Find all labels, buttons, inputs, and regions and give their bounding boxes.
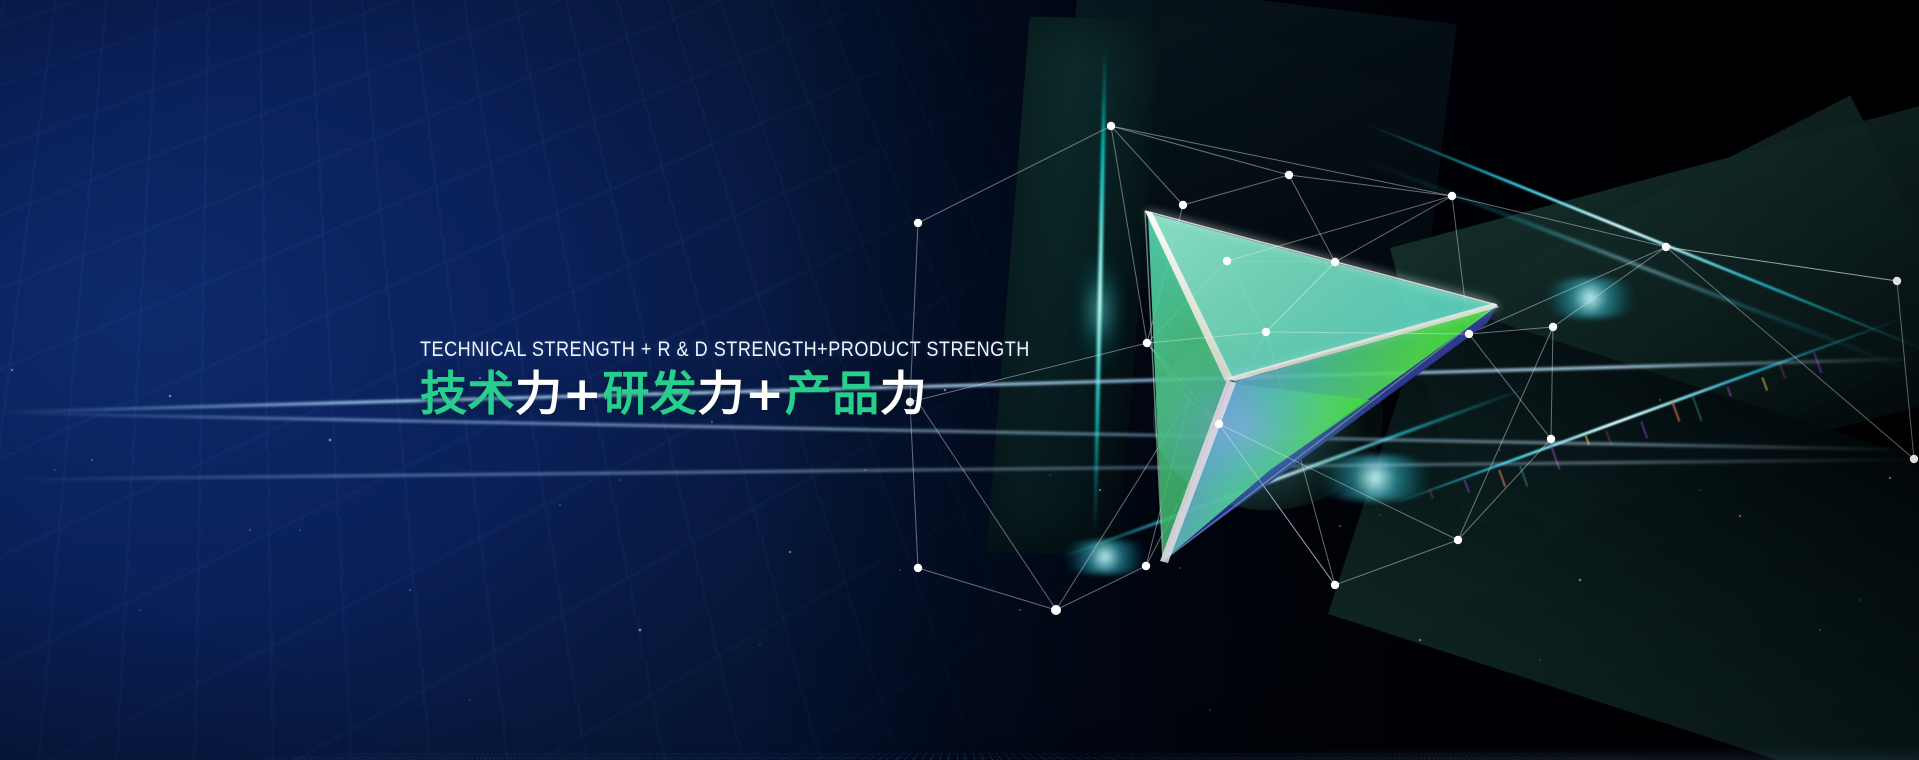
- headline-english: TECHNICAL STRENGTH + R & D STRENGTH+PROD…: [420, 338, 1030, 362]
- headline-chinese: 技术力+研发力+产品力: [420, 369, 1129, 422]
- prism-inner-glow: [1153, 326, 1383, 510]
- headline-chinese-part-0: 技术: [420, 367, 515, 422]
- headline-chinese-part-6: 产品: [785, 367, 880, 422]
- headline-chinese-part-7: 力: [880, 367, 928, 422]
- headline-chinese-part-2: +: [563, 367, 603, 422]
- headline-chinese-part-3: 研发: [602, 367, 697, 422]
- headline-chinese-part-5: +: [745, 367, 785, 422]
- headline-block: TECHNICAL STRENGTH + R & D STRENGTH+PROD…: [420, 338, 1129, 422]
- headline-chinese-part-4: 力: [697, 367, 745, 422]
- hero-banner: TECHNICAL STRENGTH + R & D STRENGTH+PROD…: [0, 0, 1919, 760]
- headline-chinese-part-1: 力: [515, 367, 563, 422]
